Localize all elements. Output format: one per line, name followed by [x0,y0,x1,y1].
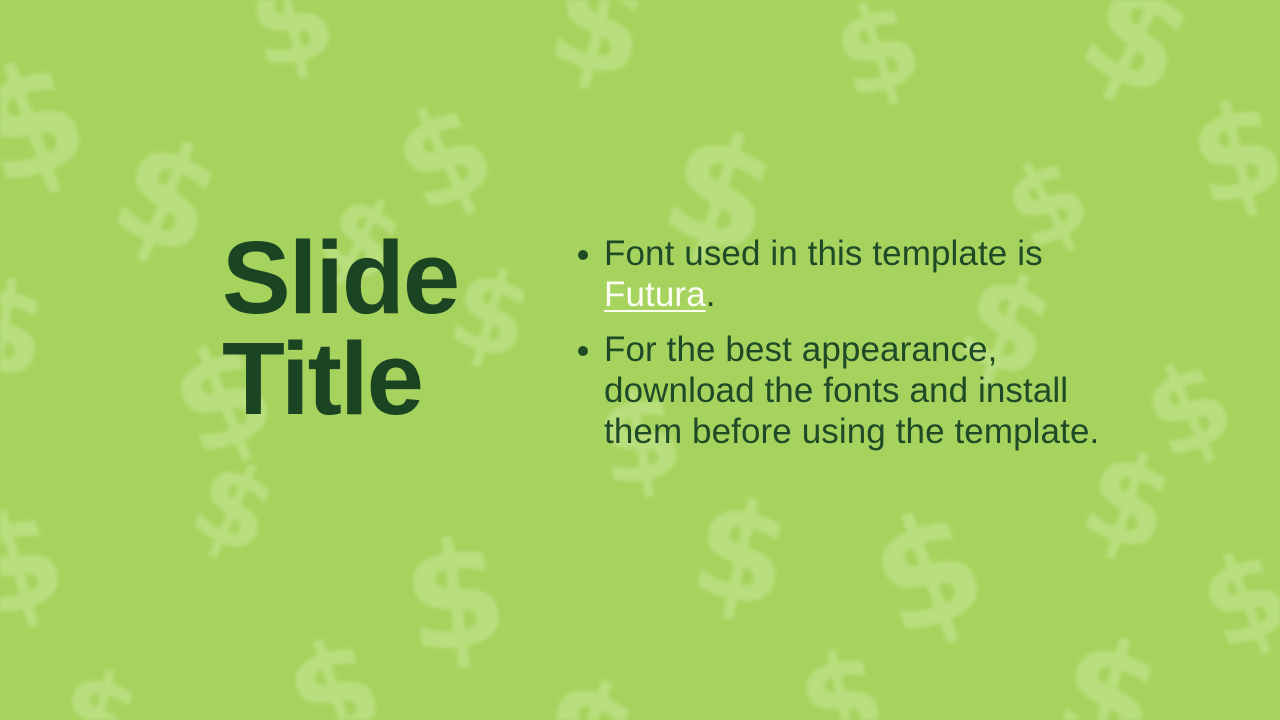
bullet-point-icon [578,346,588,356]
presentation-slide: $ $ $ $ $ $ $ $ $ $ $ $ $ $ $ $ $ $ $ $ … [0,0,1280,720]
title-line-2: Title [222,321,422,436]
dollar-sign-icon: $ [1185,529,1280,669]
title-line-1: Slide [222,220,458,335]
dollar-sign-icon: $ [95,115,238,281]
dollar-sign-icon: $ [1043,615,1175,720]
dollar-sign-icon: $ [272,617,396,720]
bullet-point-icon [578,250,588,260]
dollar-sign-icon: $ [1178,79,1280,227]
dollar-sign-icon: $ [48,652,151,720]
slide-title-block: SlideTitle [222,228,552,430]
dollar-sign-icon: $ [1062,0,1213,122]
slide-body-block: Font used in this template is Futura. Fo… [578,233,1123,466]
futura-font-link[interactable]: Futura [604,275,706,314]
dollar-sign-icon: $ [788,633,895,720]
dollar-sign-icon: $ [177,441,292,573]
bullet-text-1: Font used in this template is Futura. [604,233,1123,315]
dollar-sign-icon: $ [0,488,78,640]
dollar-sign-icon: $ [238,0,345,89]
bullet-1-text-before-link: Font used in this template is [604,234,1043,273]
list-item: For the best appearance, download the fo… [578,329,1123,452]
page-title: SlideTitle [222,228,552,430]
dollar-sign-icon: $ [0,35,105,212]
dollar-sign-icon: $ [681,478,802,631]
bullet-1-text-after-link: . [706,275,716,314]
dollar-sign-icon: $ [376,81,512,235]
dollar-sign-icon: $ [0,261,56,398]
bullet-2-text: For the best appearance, download the fo… [604,330,1099,451]
dollar-sign-icon: $ [1128,341,1249,480]
dollar-sign-icon: $ [820,0,935,118]
bullet-text-2: For the best appearance, download the fo… [604,329,1123,452]
dollar-sign-icon: $ [537,0,662,101]
dollar-sign-icon: $ [518,653,655,720]
dollar-sign-icon: $ [853,485,1002,662]
list-item: Font used in this template is Futura. [578,233,1123,315]
dollar-sign-icon: $ [394,518,515,677]
